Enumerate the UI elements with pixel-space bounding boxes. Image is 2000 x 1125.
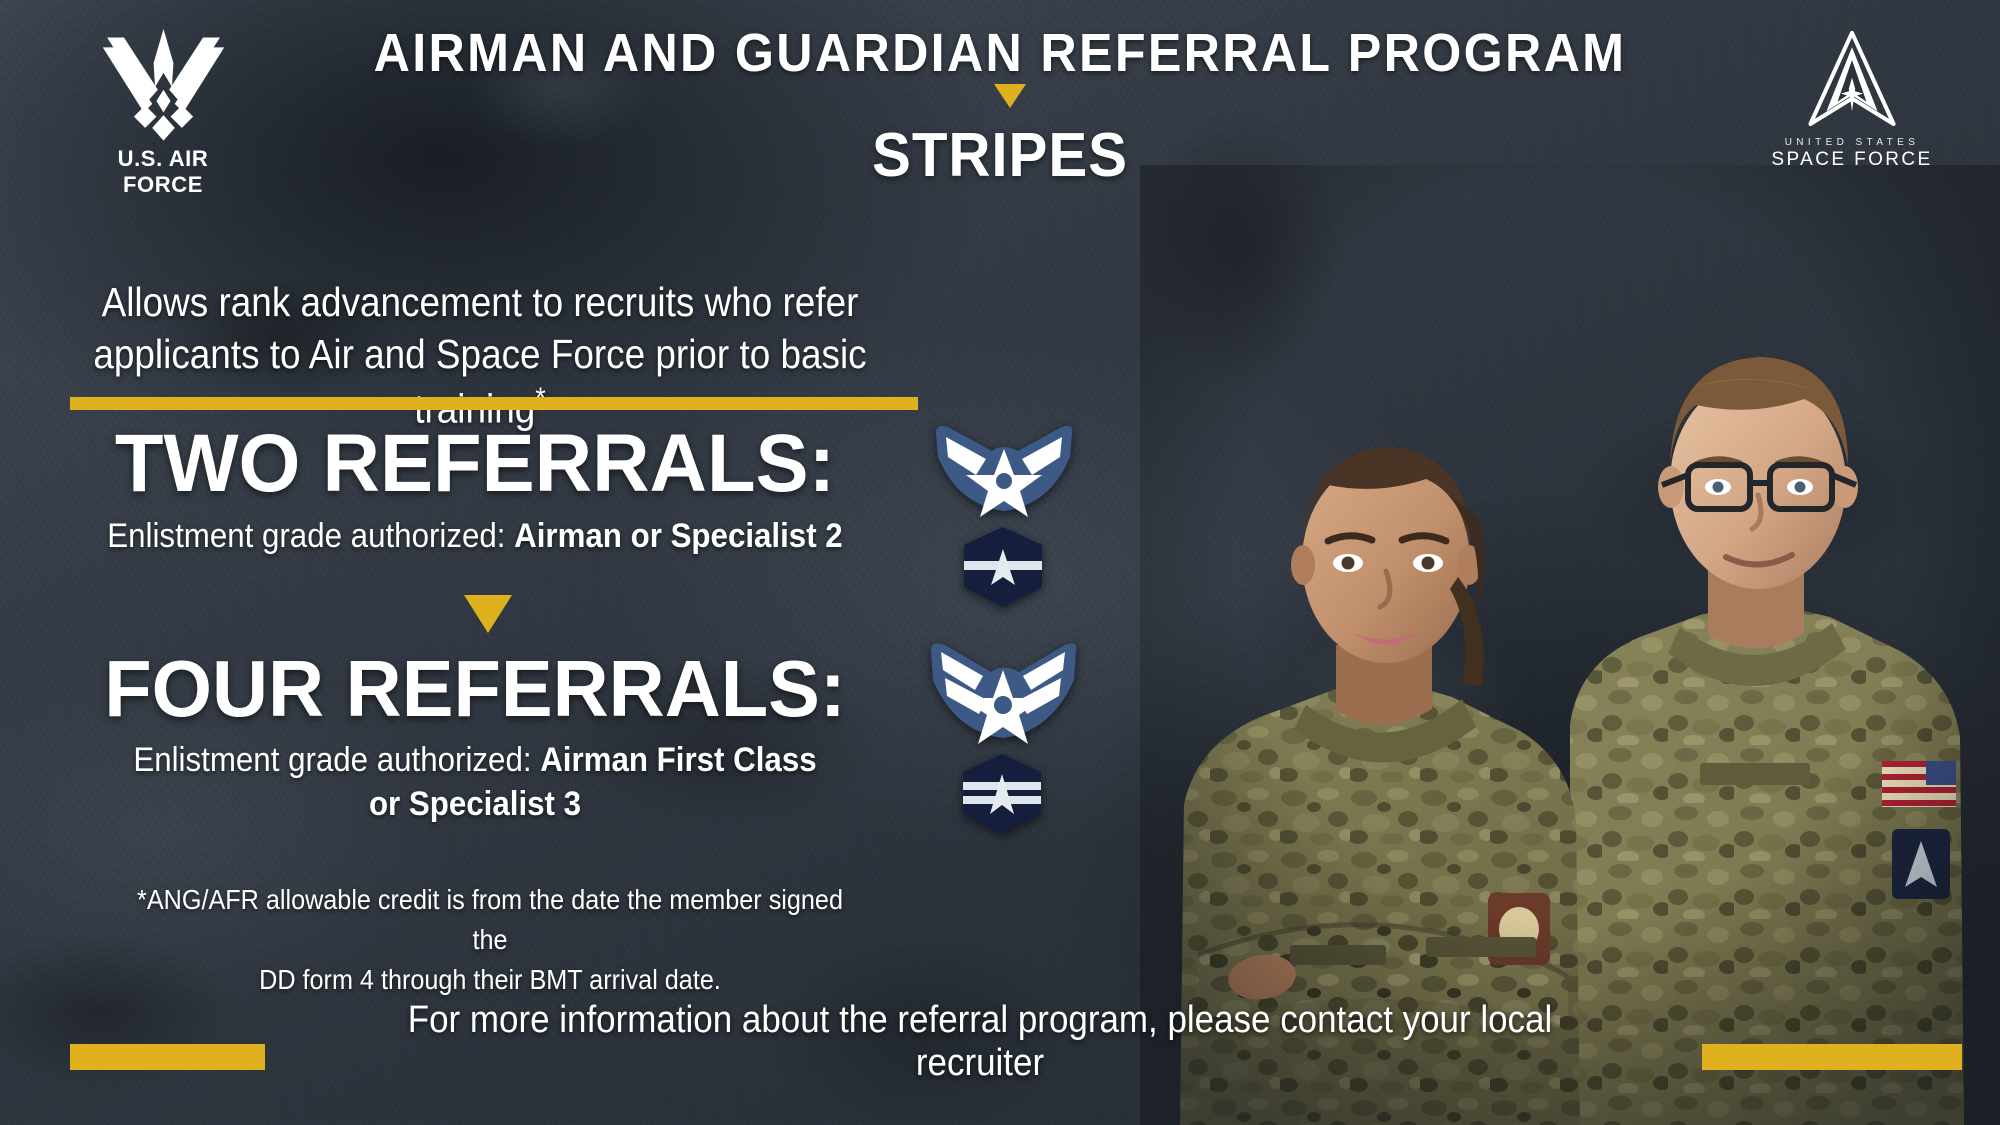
- tier-two-grades: Airman or Specialist 2: [514, 517, 843, 555]
- airman-chevron-insignia: [936, 426, 1072, 517]
- page-title: AIRMAN AND GUARDIAN REFERRAL PROGRAM: [70, 22, 1930, 84]
- footnote-line-2: DD form 4 through their BMT arrival date…: [130, 960, 850, 1000]
- title-down-triangle-icon: [994, 84, 1026, 108]
- tier-two-referrals: TWO REFERRALS: Enlistment grade authoriz…: [0, 422, 950, 558]
- tier-four-heading: FOUR REFERRALS:: [14, 648, 936, 730]
- footnote-text: *ANG/AFR allowable credit is from the da…: [130, 880, 850, 999]
- tier-four-insignia-group: [925, 636, 1080, 841]
- specialist-3-delta-insignia: [963, 754, 1041, 834]
- service-members-photo: [1140, 165, 2000, 1125]
- tier-two-sub-prefix: Enlistment grade authorized:: [107, 517, 514, 555]
- footer-gold-bar-right: [1702, 1044, 1962, 1070]
- tier-four-subtext: Enlistment grade authorized: Airman Firs…: [38, 738, 912, 826]
- tier-two-heading: TWO REFERRALS:: [14, 422, 936, 506]
- intro-text: Allows rank advancement to recruits who …: [75, 276, 885, 435]
- section-separator-down-triangle-icon: [464, 595, 512, 633]
- tier-four-grades: Airman First Class: [540, 741, 816, 779]
- footer-contact-text: For more information about the referral …: [345, 999, 1615, 1085]
- referral-program-poster: U.S. AIR FORCE UNITED STATES SPACE FORCE…: [0, 0, 2000, 1125]
- page-subtitle: STRIPES: [60, 120, 1940, 191]
- tier-two-subtext: Enlistment grade authorized: Airman or S…: [38, 514, 912, 558]
- gold-divider-rule: [70, 397, 918, 410]
- footer-gold-bar-left: [70, 1044, 265, 1070]
- tier-four-referrals: FOUR REFERRALS: Enlistment grade authori…: [0, 648, 950, 826]
- tier-four-grades-line2: or Specialist 3: [369, 785, 581, 823]
- airman-first-class-chevron-insignia: [931, 643, 1076, 744]
- footnote-line-1: *ANG/AFR allowable credit is from the da…: [130, 880, 850, 960]
- tier-two-insignia-group: [930, 415, 1075, 615]
- tier-four-sub-prefix: Enlistment grade authorized:: [133, 741, 540, 779]
- specialist-2-delta-insignia: [964, 527, 1042, 607]
